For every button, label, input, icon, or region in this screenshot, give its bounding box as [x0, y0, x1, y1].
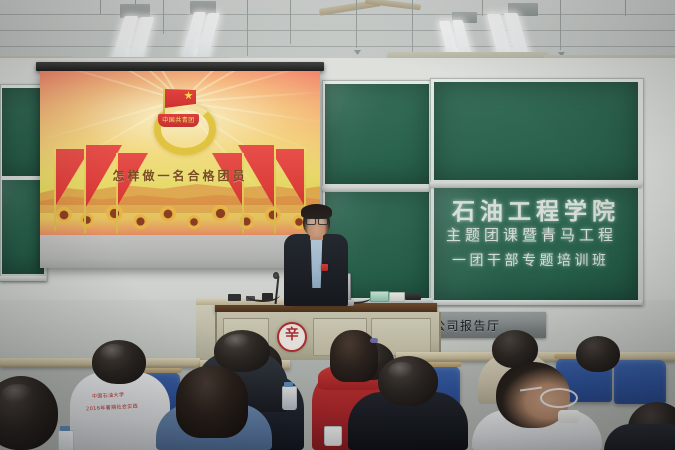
hair-highlight [100, 344, 128, 362]
slide-title-text: 怎样做一名合格团员 [40, 167, 320, 184]
flag-pole [84, 145, 86, 233]
light-hanger-rod [412, 0, 413, 52]
communist-youth-league-emblem: 中国共青团 [148, 87, 208, 143]
projection-screen: 中国共青团 怎样做一名合格团员 [40, 71, 320, 268]
projector-screen-housing [36, 62, 324, 71]
sunflower-graphic [106, 205, 123, 222]
water-bottle [282, 386, 297, 410]
presenter-badge [321, 264, 328, 271]
sunflower-graphic [160, 206, 176, 222]
board-eraser [405, 293, 421, 300]
emblem-banner-text: 中国共青团 [158, 114, 199, 127]
student-long-hair [176, 366, 248, 438]
flag-pole [274, 145, 276, 233]
sunflower-graphic [80, 213, 94, 227]
bottle-cap [284, 382, 293, 387]
emblem-flagpole [163, 87, 165, 117]
blackboard-center-upper [325, 84, 429, 184]
bottle-cap [60, 426, 70, 431]
sunflower-graphic [212, 205, 229, 222]
light-hanger-rod [100, 0, 101, 14]
blackboard-subheading: 主题团课暨青马工程 [446, 224, 617, 245]
hair-tie [370, 338, 378, 343]
water-bottle [324, 426, 342, 446]
chalk-rail [0, 276, 46, 281]
flag-pole [54, 149, 56, 231]
lecture-hall-photo: 石油工程学院 主题团课暨青马工程 一团干部专题培训班 [0, 0, 675, 450]
sunflower-graphic [56, 207, 72, 223]
ceiling-fan [305, 0, 435, 18]
presenter-hair [301, 204, 332, 219]
sunflower-graphic [265, 207, 281, 223]
student-head [576, 336, 620, 372]
blackboard-center-divider [322, 186, 432, 191]
blackboard-right-upper [434, 82, 638, 180]
hair-highlight [388, 362, 416, 380]
water-bottle [58, 430, 74, 450]
lecture-seat [614, 360, 666, 404]
chalk-box [370, 291, 389, 302]
flag-pole [116, 153, 118, 233]
light-hanger-rod [560, 0, 561, 50]
chalk-box-lid [389, 292, 405, 302]
screen-blank-area [40, 235, 320, 268]
paper-on-desk [558, 410, 580, 423]
light-hanger-rod [482, 0, 483, 16]
desk-equipment [228, 294, 241, 301]
light-hanger-rod [625, 0, 626, 16]
hair-highlight [2, 384, 34, 404]
student-dark-top [604, 424, 675, 450]
blackboard-heading: 石油工程学院 [452, 192, 620, 226]
eyeglasses-icon [540, 388, 578, 408]
light-hanger-rod [290, 0, 291, 44]
chalk-rail [430, 300, 642, 305]
blackboard-left-lower [2, 180, 44, 274]
flag-pole [242, 153, 244, 233]
light-hanger-rod [247, 0, 248, 56]
sunflower-graphic [187, 215, 201, 229]
light-hanger-rod [356, 0, 357, 48]
sunflower-graphic [133, 214, 148, 229]
presenter-glasses [306, 218, 327, 223]
hair-highlight [224, 334, 252, 350]
blackboard-subheading-2: 一团干部专题培训班 [452, 250, 610, 270]
microphone-head [273, 272, 279, 279]
blackboard-right-divider [430, 182, 642, 187]
blackboard-left-upper [2, 88, 44, 176]
china-university-of-petroleum-emblem: 辛 [277, 322, 307, 352]
light-hanger-rod [163, 0, 164, 34]
presentation-slide: 中国共青团 怎样做一名合格团员 [40, 71, 320, 235]
